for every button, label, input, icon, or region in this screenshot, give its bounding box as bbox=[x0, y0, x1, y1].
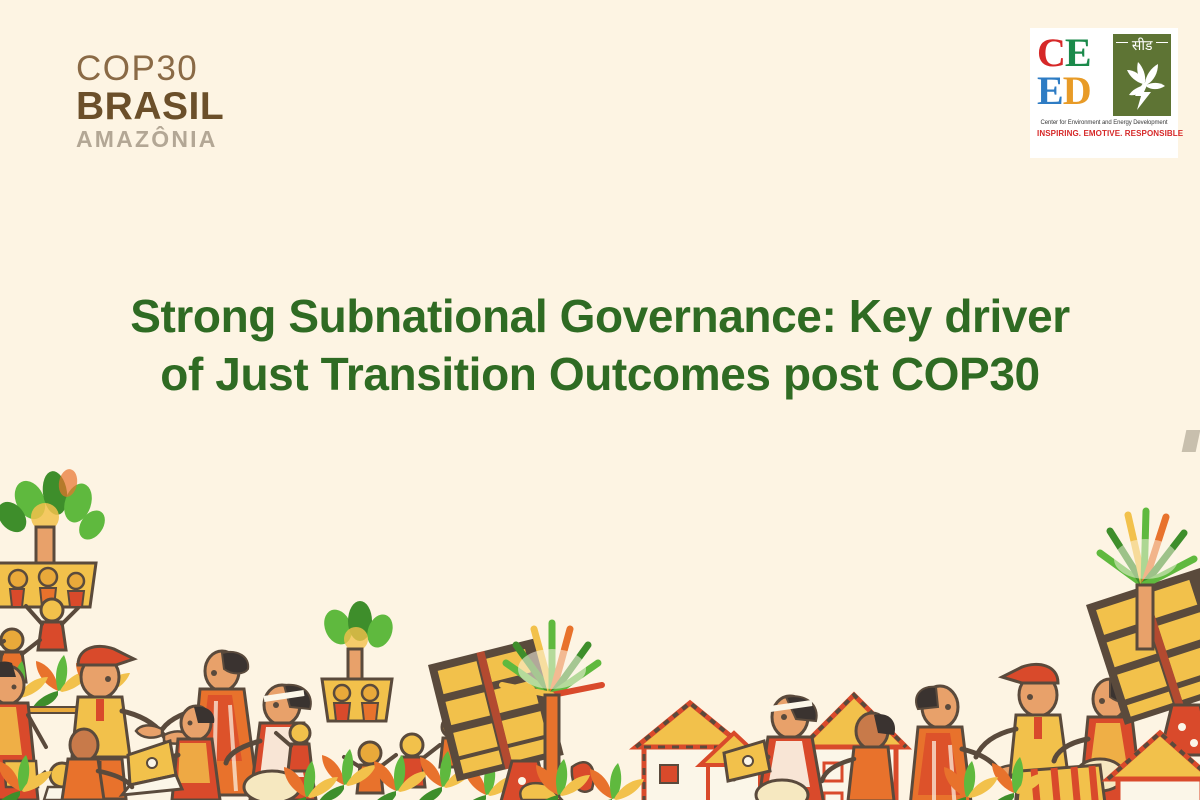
tree-foliage-left bbox=[0, 468, 110, 563]
cop30-brasil-amazonia-logo: COP30 BRASIL AMAZÔNIA bbox=[76, 52, 226, 151]
tree-center bbox=[319, 601, 397, 721]
cop30-wordmark: COP30 bbox=[76, 52, 226, 86]
amazonia-wordmark: AMAZÔNIA bbox=[76, 128, 226, 151]
ceed-tagline: INSPIRING. EMOTIVE. RESPONSIBLE bbox=[1037, 129, 1171, 138]
slide-canvas: COP30 BRASIL AMAZÔNIA CE ED सीड bbox=[0, 0, 1200, 800]
folk-art-illustration-band bbox=[0, 455, 1200, 800]
ceed-letter-row-1: CE bbox=[1037, 34, 1111, 72]
title-line-2: of Just Transition Outcomes post COP30 bbox=[160, 348, 1039, 400]
ceed-letter-row-2: ED bbox=[1037, 72, 1111, 110]
leaf-lightning-icon bbox=[1122, 58, 1166, 110]
ceed-subtitle: Center for Environment and Energy Develo… bbox=[1037, 120, 1171, 126]
brasil-wordmark: BRASIL bbox=[76, 88, 226, 125]
ceed-hindi-text: सीड bbox=[1113, 39, 1171, 53]
ceed-letter-e-blue: E bbox=[1037, 68, 1063, 113]
page-title: Strong Subnational Governance: Key drive… bbox=[0, 288, 1200, 404]
edge-artifact-mark bbox=[1182, 430, 1200, 452]
title-line-1: Strong Subnational Governance: Key drive… bbox=[130, 290, 1070, 342]
ceed-emblem-box: सीड bbox=[1113, 34, 1171, 116]
ceed-lettermark: CE ED bbox=[1037, 34, 1111, 111]
ceed-letter-d: D bbox=[1063, 68, 1091, 113]
ceed-logo-top: CE ED सीड bbox=[1037, 34, 1171, 118]
ceed-logo: CE ED सीड Center for Environment and bbox=[1030, 28, 1178, 158]
